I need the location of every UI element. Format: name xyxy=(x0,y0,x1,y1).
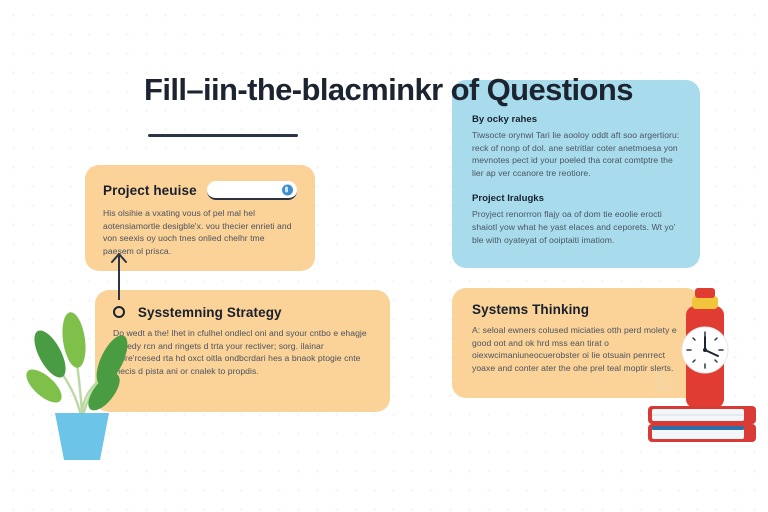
questions-section-1-subheading: By ocky rahes xyxy=(472,114,684,125)
questions-section-1-body: Tiwsocte orynwi Tari lie aooloy oddt aft… xyxy=(472,129,684,179)
clock-bottle xyxy=(682,288,728,408)
plant-leaves xyxy=(22,311,134,416)
page-title: Fill–iin-the-blacminkr of Questions xyxy=(144,72,633,108)
books-and-clock-bottle-illustration xyxy=(644,288,768,448)
project-house-heading: Project heuise xyxy=(103,183,197,198)
title-underline-rule xyxy=(148,134,298,137)
upward-arrow-icon xyxy=(108,248,130,300)
potted-plant-illustration xyxy=(22,300,142,475)
systeming-strategy-heading-row: Sysstemning Strategy xyxy=(113,305,372,320)
project-house-heading-row: Project heuise xyxy=(103,181,297,200)
questions-section-2-subheading: Project Iralugks xyxy=(472,193,684,204)
project-house-body: His olsihie a vxating vous of pel mal he… xyxy=(103,207,297,257)
questions-card: By ocky rahes Tiwsocte orynwi Tari lie a… xyxy=(452,80,700,268)
questions-section-2-body: Proyject renorrron flajy oa of dom tie e… xyxy=(472,208,684,246)
info-dot-icon[interactable] xyxy=(282,184,293,195)
book-stack xyxy=(648,406,756,442)
project-house-input-wrap[interactable] xyxy=(207,181,297,200)
systeming-strategy-heading: Sysstemning Strategy xyxy=(138,305,282,320)
plant-pot xyxy=(55,413,109,460)
systeming-strategy-body: Do wedt a the! lhet in cfulhel ondlecl o… xyxy=(113,327,372,377)
